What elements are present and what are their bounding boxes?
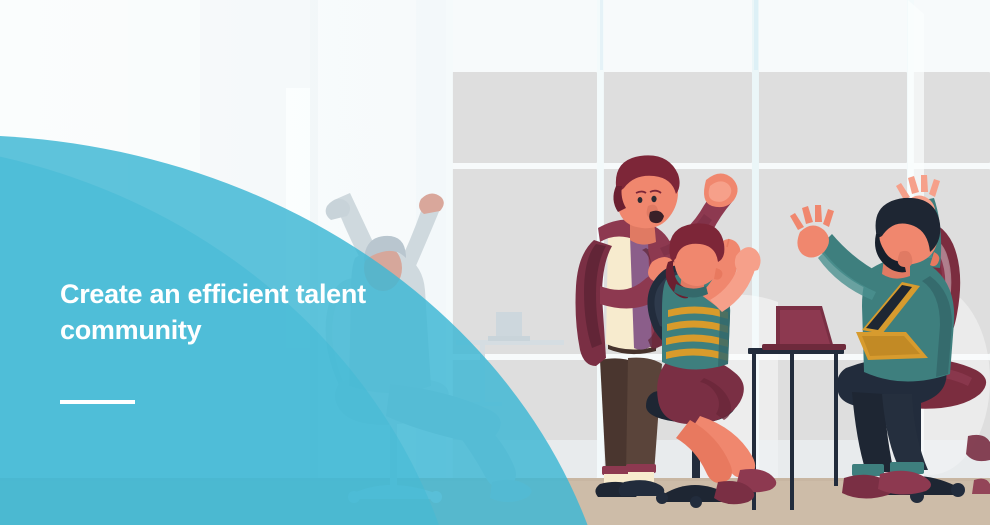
chair-shadow-right [966, 435, 990, 494]
standing-man-eye-left [638, 197, 643, 203]
hero-banner: Create an efficient talent community [0, 0, 990, 525]
right-man-cuff-back [852, 464, 884, 476]
laptop-on-desk [762, 306, 846, 350]
right-man-shoe-front [878, 471, 931, 495]
foreground-figures [0, 0, 990, 525]
standing-man-shoe-front [619, 480, 665, 496]
standing-man-eye-right [651, 196, 656, 202]
